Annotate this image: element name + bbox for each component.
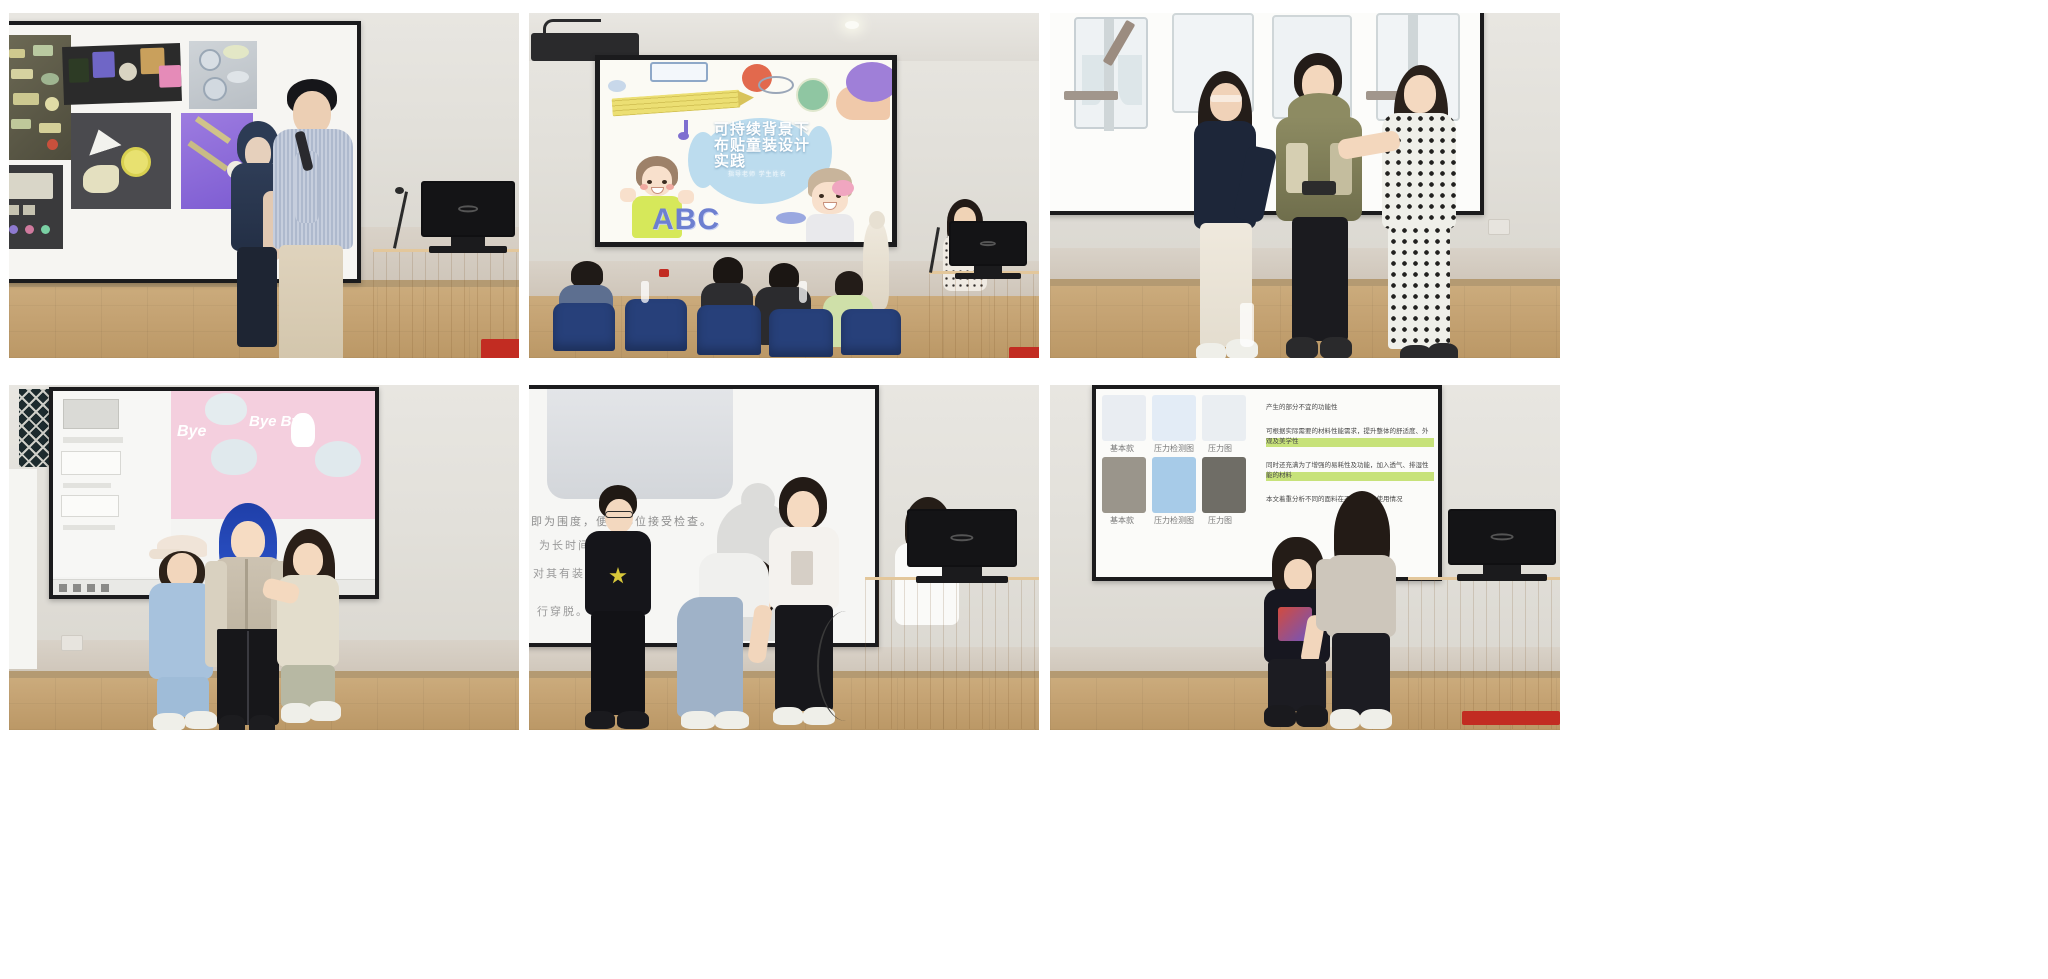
red-case-2 — [659, 269, 669, 277]
audience-chair — [697, 305, 761, 355]
product-label-4: 基本款 — [1110, 515, 1134, 526]
audience-chair — [625, 299, 687, 351]
presenter-with-microphone — [271, 79, 357, 358]
slide-headline: Bye — [177, 423, 206, 441]
collage-photo-bottom-center[interactable]: 即为围度，便于部位接受检查。 为长时间之用作为。 对其有装 行穿脱。 — [529, 385, 1039, 730]
collage-photo-bottom-right[interactable]: 基本款 压力检测图 压力图 基本款 压力检测图 压力图 产生的部分不宜的功能性 … — [1050, 385, 1560, 730]
product-label-5: 压力检测图 — [1154, 515, 1194, 526]
slide-headline: 可持续背景下布贴童装设计实践 — [714, 122, 810, 171]
slide-subtext: 指导老师 学生姓名 — [728, 172, 802, 178]
podium — [1408, 577, 1560, 729]
projection-screen: 可持续背景下布贴童装设计实践 指导老师 学生姓名 — [595, 55, 897, 247]
dell-monitor[interactable] — [1448, 509, 1556, 581]
water-bottle — [799, 281, 807, 303]
model-center — [1276, 51, 1362, 358]
product-label-6: 压力图 — [1208, 515, 1232, 526]
podium — [929, 271, 1039, 358]
student-kneeling — [677, 553, 779, 730]
collage-photo-top-right[interactable]: 效果图 — [1050, 13, 1560, 358]
pink-cat-slide: Bye Bye Bye — [171, 391, 375, 519]
dell-monitor[interactable] — [949, 221, 1027, 279]
floor-mat — [1462, 711, 1560, 725]
wall-outlet — [1488, 219, 1510, 235]
red-case — [481, 339, 519, 358]
student-right — [275, 529, 347, 729]
audience-chair — [841, 309, 901, 355]
water-bottle — [641, 281, 649, 303]
audience-chair — [769, 309, 833, 357]
student-black-tee — [583, 485, 653, 730]
window-grille — [19, 389, 53, 467]
slide-line-4: 行穿脱。 — [537, 603, 589, 619]
model-standing — [1322, 491, 1402, 729]
photo-collage: 可持续背景下布贴童装设计实践 指导老师 学生姓名 — [0, 0, 2048, 979]
product-label-1: 基本款 — [1110, 443, 1134, 454]
slide-bullet-1: 产生的部分不宜的功能性 — [1266, 403, 1434, 413]
dell-monitor[interactable] — [421, 181, 515, 253]
ceiling-light — [845, 21, 859, 29]
product-label-3: 压力图 — [1208, 443, 1232, 454]
dell-monitor[interactable] — [907, 509, 1017, 583]
water-bottle — [1240, 303, 1254, 347]
slide-headline-2: Bye Bye — [249, 413, 308, 430]
slide-bullet-3: 同时还充满为了增强的易耗性及功能，加入透气、排湿性能的材料 — [1266, 461, 1434, 481]
audience-chair — [553, 303, 615, 351]
student-right — [1380, 65, 1462, 358]
floor-cable — [817, 611, 875, 721]
wall-outlet — [61, 635, 83, 651]
podium — [865, 577, 1039, 729]
collage-photo-bottom-left[interactable]: Bye Bye Bye — [9, 385, 519, 730]
collage-photo-top-center[interactable]: 可持续背景下布贴童装设计实践 指导老师 学生姓名 — [529, 13, 1039, 358]
slide-line-3: 对其有装 — [533, 565, 585, 581]
red-case — [1009, 347, 1039, 358]
collage-photo-top-left[interactable] — [9, 13, 519, 358]
product-label-2: 压力检测图 — [1154, 443, 1194, 454]
slide-bullet-2: 可根据实际需要的材料性能需求，提升整体的舒适度、外观及美学性 — [1266, 427, 1434, 447]
slide-decor-text: ABC — [652, 204, 720, 236]
